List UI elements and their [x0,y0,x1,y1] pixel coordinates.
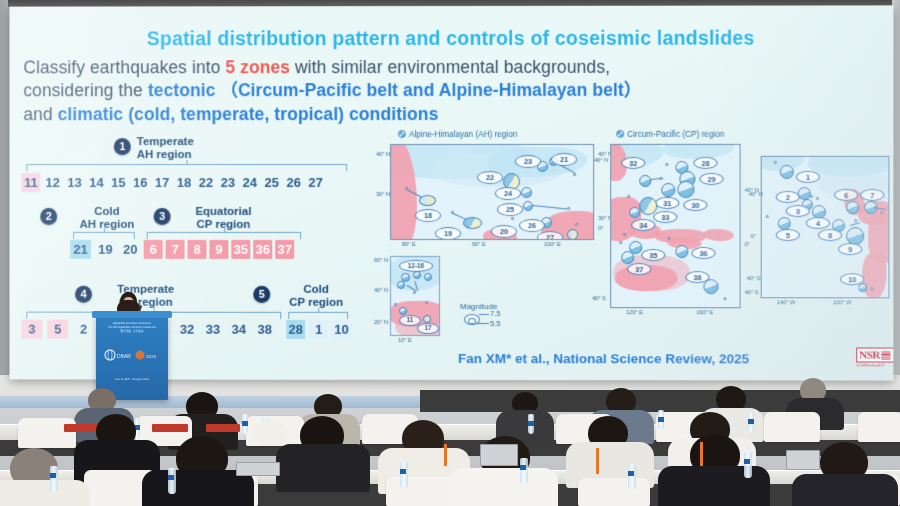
body-line-3: and climatic (cold, temperate, tropical)… [23,102,885,126]
audience-torso [0,480,90,506]
ah-label-27: 27 [537,231,563,240]
zone-1-number: 17 [153,173,172,192]
water-bottle [744,452,752,478]
ah-xtick-1: 90° E [472,242,486,248]
chair [764,412,820,442]
zone-label-1-line1: Temperate [137,136,194,148]
am-label-1: 1 [796,171,820,183]
water-bottle [168,468,176,494]
ah-label-24: 24 [495,187,521,200]
water-bottle [50,466,58,492]
laptop [480,444,518,466]
gift-box [206,424,240,432]
cp-map-panel: 32 28 29 31 30 33 34 [610,144,740,308]
highlight-tectonic: tectonic [148,80,216,100]
ah-ytick-0: 40° N [376,152,390,158]
zone-3-number: 7 [166,240,185,259]
zone-1-number: 25 [262,173,281,192]
ah-inset-panel: 12-16 11 17 [390,256,440,336]
zone-label-5-line1: Cold [303,284,329,296]
nsr-logo-text: NSR [859,349,880,361]
zone-4-number: 34 [228,320,249,339]
water-bottle [520,458,528,484]
am-ytick-1: 0° [751,234,756,240]
ah-ytick-1: 30° N [376,192,390,198]
zone-1-number: 23 [218,173,237,192]
cp-ytick-2: 40° S [592,296,606,302]
zone-2-number: 20 [120,240,141,259]
zone-badge-1: 1 [114,138,131,155]
americas-map-panel: 1 2 3 4 5 6 7 8 [761,156,890,298]
audience-torso [276,444,370,492]
ah-label-26: 26 [519,219,545,232]
ah-inset-ytick-0: 60° N [374,258,388,264]
cp-ytick-r1: 0° [745,242,750,248]
zone-brace-5 [288,312,348,319]
podium-footer-text: June 11, 2025 · Chengdu, China [96,378,168,381]
zone-label-2-line2: AH region [80,219,135,231]
zone-brace-1 [26,164,347,171]
zone-badge-5: 5 [253,286,270,303]
am-ytick-0: 40° N [749,192,763,198]
podium-top-surface [92,311,172,318]
slide-title: Spatial distribution pattern and control… [9,27,893,51]
beachball-icon [616,130,624,138]
body-text-fragment: with similar environmental backgrounds, [290,57,610,77]
cp-label-30: 30 [683,199,707,211]
zone-1-number: 26 [284,173,303,192]
podium-line-1: Digital Belt and Road Conference [113,322,152,325]
zone-brace-2 [73,232,135,239]
cp-xtick-0: 120° E [626,310,643,316]
nsr-logo: NSR 10.1093/nsr/nwaf179 [856,347,893,367]
ah-inset-ytick-1: 40° N [374,288,388,294]
highlight-belts: Circum-Pacific belt and Alpine-Himalayan… [238,80,624,100]
ah-inset-label-17: 17 [417,323,439,334]
cp-map-header: Circum-Pacific (CP) region [616,130,724,139]
zone-badge-4: 4 [75,286,92,303]
zone-label-5-line2: CP region [289,297,343,309]
zone-numbers-2: 211920 [70,240,141,259]
citation-text: Fan XM* et al., National Science Review,… [458,351,749,366]
podium-line-2: The 9th Digital Belt and Road Conference [108,326,156,329]
svg-text:2025: 2025 [146,354,157,359]
zone-1-number: 11 [21,173,40,192]
zone-3-number: 36 [253,240,272,259]
am-label-6: 6 [834,189,858,201]
zone-2-number: 19 [95,240,116,259]
zone-classification-diagram: 1 Temperate AH region 111213141516171822… [11,132,370,357]
zone-3-number: 9 [209,240,228,259]
zone-4-number: 33 [202,320,223,339]
zone-1-number: 22 [196,173,215,192]
water-bottle [400,462,408,488]
zone-4-number: 3 [21,320,42,339]
zone-4-number: 38 [254,320,275,339]
zone-numbers-1: 1112131415161718222324252627 [21,173,325,192]
cp-xtick-1: 160° E [696,310,713,316]
ah-map-header: Alpine-Himalayan (AH) region [398,130,517,139]
cp-label-29: 29 [699,173,723,185]
cp-ytick-1: 0° [598,226,603,232]
map-figure: Alpine-Himalayan (AH) region 18 19 [376,130,889,361]
water-bottle [658,410,664,430]
ah-inset-label-11: 11 [399,315,421,326]
laptop [236,462,280,476]
zone-5-number: 10 [332,320,351,339]
zone-3-number: 35 [231,240,250,259]
zone-2-number: 21 [70,240,91,259]
body-text-fragment: ） [624,80,642,100]
cp-label-33: 33 [653,211,677,223]
gift-box [152,424,188,432]
am-xtick-0: 140° W [777,300,795,306]
cp-label-32: 32 [621,157,645,169]
body-text-fragment: （ [215,80,237,100]
zone-label-3-line1: Equatorial [195,206,251,218]
zone-numbers-5: 28110 [286,320,351,339]
am-label-8: 8 [818,229,842,241]
zone-brace-3 [147,232,301,239]
zone-label-1-line2: AH region [137,149,192,161]
zone-3-number: 37 [275,240,294,259]
chair [18,418,76,448]
ah-label-21: 21 [551,153,577,166]
podium-line-3: 数字丝路 · 共享未来 [120,330,143,333]
ah-map-header-text: Alpine-Himalayan (AH) region [409,130,517,139]
zone-4-number: 32 [177,320,198,339]
body-text-fragment: Classify earthquakes into [23,57,225,77]
zone-label-5: Cold CP region [276,284,356,310]
audience-torso [448,468,558,506]
ah-label-23: 23 [515,155,541,168]
highlight-5-zones: 5 zones [225,57,290,77]
water-bottle [628,464,636,490]
ah-inset-ytick-2: 20° N [374,320,388,326]
lanyard [596,448,599,474]
cp-label-37: 37 [627,263,651,275]
conference-photo: Spatial distribution pattern and control… [0,0,900,506]
zone-1-number: 18 [175,173,194,192]
am-label-2: 2 [776,191,800,203]
zone-4-number: 5 [47,320,68,339]
zone-4-number: 2 [73,320,94,339]
ah-xtick-2: 100° E [544,242,561,248]
water-bottle [242,414,248,434]
zone-1-number: 24 [240,173,259,192]
gift-box [64,424,100,432]
am-xtick-1: 100° W [833,300,852,306]
ah-map-panel: 18 19 20 22 23 21 24 [390,144,594,240]
am-label-9: 9 [838,243,862,255]
beachball-icon [398,130,406,138]
audience-torso [658,466,770,506]
podium-logo-graphic: DBAR 2025 [102,348,162,362]
zone-3-number: 6 [144,240,163,259]
zone-label-2-line1: Cold [94,206,119,218]
zone-numbers-3: 6789353637 [144,240,294,259]
zone-5-number: 1 [309,320,328,339]
body-line-2: considering the tectonic （Circum-Pacific… [23,79,885,103]
zone-badge-3: 3 [154,208,171,225]
am-label-5: 5 [776,229,800,241]
am-label-7: 7 [860,189,884,201]
audience-head-cap [254,420,288,446]
chair [858,412,900,442]
zone-1-number: 12 [43,173,62,192]
ah-inset-xtick-0: 10° E [398,338,412,344]
body-text-fragment: considering the [23,81,147,101]
svg-text:DBAR: DBAR [117,354,131,360]
ah-label-22: 22 [477,171,503,184]
zone-1-number: 27 [306,173,325,192]
zone-label-2: Cold AH region [63,206,151,232]
zone-1-number: 16 [131,173,150,192]
zone-3-number: 8 [188,240,207,259]
zone-label-1: Temperate AH region [137,136,229,162]
zone-5-number: 28 [286,320,305,339]
audience-torso [792,474,898,506]
cp-label-31: 31 [655,197,679,209]
cp-ytick-0: 40° N [594,158,608,164]
zone-1-number: 15 [109,173,128,192]
podium-banner-text: Digital Belt and Road Conference The 9th… [96,322,168,334]
zone-1-number: 13 [65,173,84,192]
am-ytick-2: 40° S [747,276,761,282]
ah-label-25: 25 [497,203,523,216]
cp-map-header-text: Circum-Pacific (CP) region [627,130,724,139]
slide-body-text: Classify earthquakes into 5 zones with s… [23,56,885,126]
zone-1-number: 14 [87,173,106,192]
nsr-logo-bars [881,352,890,360]
cp-label-35: 35 [641,249,665,261]
magnitude-circle-small [468,318,476,324]
magnitude-value-large: 7.5 [490,309,501,318]
ah-label-19: 19 [435,227,461,240]
cp-label-28: 28 [693,157,717,169]
ah-xtick-0: 80° E [402,242,416,248]
doi-text: 10.1093/nsr/nwaf179 [856,364,893,368]
cp-label-36: 36 [691,247,715,259]
cp-label-34: 34 [631,219,655,231]
ah-label-20: 20 [491,225,517,238]
body-text-fragment: and [23,104,57,124]
water-bottle [528,414,534,434]
zone-badge-2: 2 [40,208,57,225]
water-bottle [748,412,754,432]
ah-label-18: 18 [415,209,441,222]
lanyard [700,442,703,466]
cp-ytick-r2: 40° S [745,290,759,296]
podium: Digital Belt and Road Conference The 9th… [96,316,168,400]
am-label-4: 4 [806,217,830,229]
highlight-climatic: climatic (cold, temperate, tropical) con… [58,104,439,124]
laptop [786,450,820,470]
body-line-1: Classify earthquakes into 5 zones with s… [23,56,885,80]
magnitude-value-small: 5.5 [490,319,501,328]
lanyard [444,444,447,466]
am-label-3: 3 [786,205,810,217]
zone-label-4: Temperate CP region [98,284,194,310]
chair [578,478,650,506]
